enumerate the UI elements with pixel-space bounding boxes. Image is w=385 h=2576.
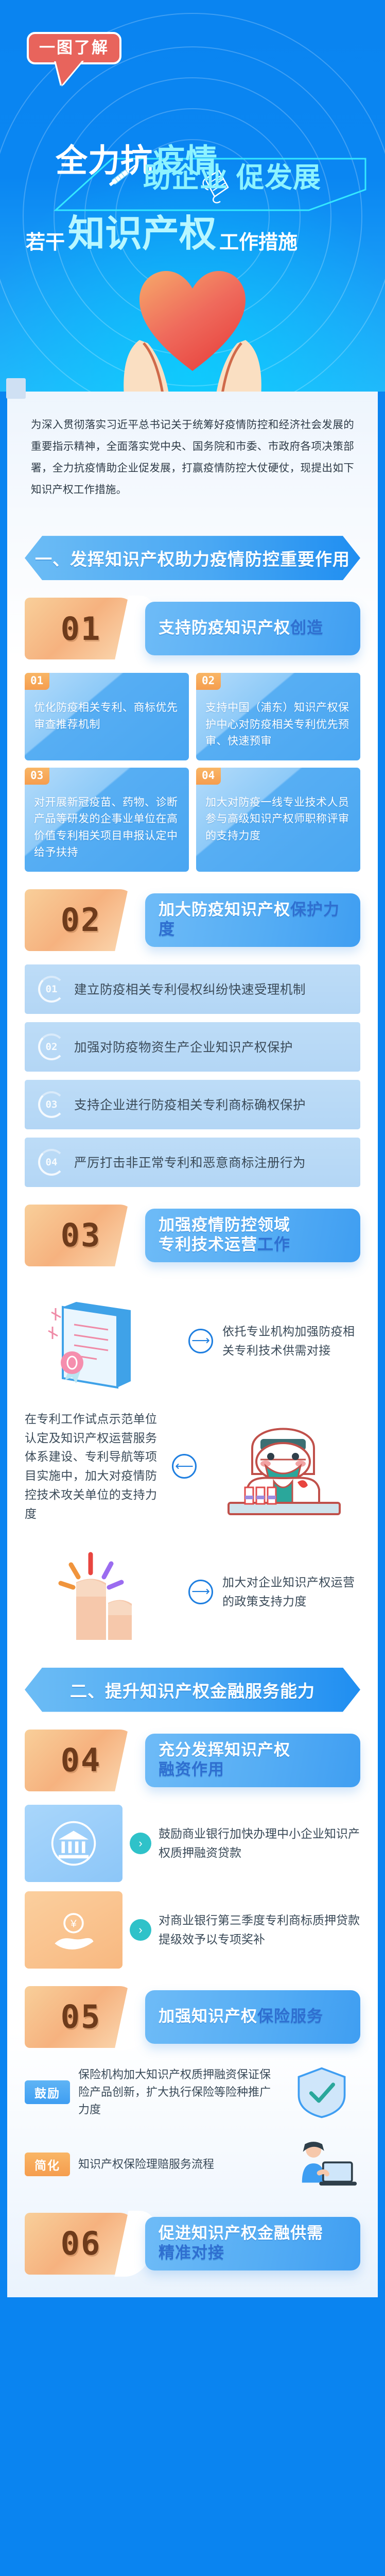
tile-text: 对开展新冠疫苗、药物、诊断产品等研发的企事业单位在高价值专利相关项目申报认定中给… [34, 794, 180, 861]
tile-item[interactable]: 03 对开展新冠疫苗、药物、诊断产品等研发的企事业单位在高价值专利相关项目申报认… [25, 768, 189, 872]
content-sheet: 为深入贯彻落实习近平总书记关于统筹好疫情防控和经济社会发展的重要指示精神，全面落… [7, 392, 378, 2297]
bar-item[interactable]: 04 严厉打击非正常专利和恶意商标注册行为 [25, 1138, 360, 1187]
card-head-04: 04 充分发挥知识产权 融资作用 [25, 1727, 360, 1793]
tag-row[interactable]: 鼓励 保险机构加大知识产权质押融资保证保险产品创新，扩大执行保险等险种推广力度 [25, 2061, 360, 2123]
hero-title-line3-pre: 若干 [26, 233, 65, 252]
badge-speech-bubble: 一图了解 [27, 32, 121, 64]
shield-insurance-illustration [283, 2061, 360, 2123]
card-title-03-highlight: 工作 [257, 1235, 290, 1253]
card-head-06: 06 促进知识产权金融供需 精准对接 [25, 2211, 360, 2277]
card-head-05: 05 加强知识产权保险服务 [25, 1984, 360, 2050]
icon-row-text: 鼓励商业银行加快办理中小企业知识产权质押融资贷款 [159, 1824, 360, 1862]
bar-ring-icon: 04 [38, 1149, 65, 1176]
bar-text: 支持企业进行防疫相关专利商标确权保护 [74, 1095, 306, 1113]
bar-group-02: 01 建立防疫相关专利侵权纠纷快速受理机制 02 加强对防疫物资生产企业知识产权… [25, 964, 360, 1187]
section-banner-1: 一、发挥知识产权助力疫情防控重要作用 [25, 536, 360, 580]
lab-researcher-illustration [206, 1412, 360, 1520]
card-title-03-line1: 加强疫情防控领域 [159, 1215, 290, 1235]
card-title-pill-05: 加强知识产权保险服务 [145, 1990, 360, 2044]
bank-icon [25, 1805, 122, 1882]
card-title-pill-02: 加大防疫知识产权保护力度 [145, 893, 360, 947]
bubble-tail [56, 60, 82, 85]
hand-coin-icon: ¥ [25, 1891, 122, 1969]
card-head-03: 03 加强疫情防控领域 专利技术运营工作 [25, 1202, 360, 1268]
card-title-pill-06: 促进知识产权金融供需 精准对接 [145, 2217, 360, 2270]
tile-text: 加大对防疫一线专业技术人员参与高级知识产权师职称评审的支持力度 [205, 794, 351, 845]
hero-title-line2: 助企业 促发展 [143, 164, 321, 192]
section-banner-1-label: 一、发挥知识产权助力疫情防控重要作用 [25, 546, 360, 570]
infographic-poster: 一图了解 全力抗疫情 助企业 促发展 [0, 0, 385, 2297]
intro-block: 为深入贯彻落实习近平总书记关于统筹好疫情防控和经济社会发展的重要指示精神，全面落… [7, 392, 378, 521]
bar-text: 建立防疫相关专利侵权纠纷快速受理机制 [74, 980, 306, 998]
hero-title-line1-white: 全力抗 [56, 143, 153, 179]
arrow-right-circle-icon: ⟶ [188, 1329, 213, 1353]
bar-text: 加强对防疫物资生产企业知识产权保护 [74, 1038, 293, 1056]
bar-item[interactable]: 02 加强对防疫物资生产企业知识产权保护 [25, 1022, 360, 1072]
arrow-right-circle-icon: ⟶ [188, 1580, 213, 1604]
tile-number: 03 [25, 768, 49, 785]
arrow-row[interactable]: ⟵ 在专利工作试点示范单位认定及知识产权运营服务体系建设、专利导航等项目实施中，… [25, 1402, 360, 1531]
chevron-right-icon: › [130, 1833, 151, 1854]
tile-text: 支持中国（浦东）知识产权保护中心对防疫相关专利优先预审、快速预审 [205, 700, 351, 750]
card-title-05-white: 加强知识产权 [159, 2007, 257, 2025]
icon-row[interactable]: ¥ › 对商业银行第三季度专利商标质押贷款提级效予以专项奖补 [25, 1891, 360, 1969]
tile-text: 优化防疫相关专利、商标优先审查推荐机制 [34, 700, 180, 733]
tile-number: 01 [25, 673, 49, 690]
card-title-04-white: 充分发挥知识产权 [159, 1740, 290, 1760]
tag-row[interactable]: 简化 知识产权保险理赔服务流程 [25, 2133, 360, 2195]
tile-item[interactable]: 01 优化防疫相关专利、商标优先审查推荐机制 [25, 673, 189, 760]
card-title-06-white: 促进知识产权金融供需 [159, 2224, 323, 2243]
tile-group-01: 01 优化防疫相关专利、商标优先审查推荐机制 02 支持中国（浦东）知识产权保护… [25, 673, 360, 872]
tile-number: 04 [196, 768, 221, 785]
card-title-pill-04: 充分发挥知识产权 融资作用 [145, 1734, 360, 1787]
icon-row[interactable]: › 鼓励商业银行加快办理中小企业知识产权质押融资贷款 [25, 1805, 360, 1882]
card-number-05: 05 [61, 1998, 101, 2036]
card-title-04-highlight: 融资作用 [159, 1760, 290, 1780]
card-title-pill-01: 支持防疫知识产权创造 [145, 602, 360, 655]
bar-number: 03 [46, 1099, 58, 1110]
bar-number: 01 [46, 984, 58, 995]
card-number-02: 02 [61, 901, 101, 939]
bar-text: 严厉打击非正常专利和恶意商标注册行为 [74, 1153, 306, 1171]
section-banner-2: 二、提升知识产权金融服务能力 [25, 1668, 360, 1712]
card-title-01-white: 支持防疫知识产权 [159, 619, 290, 637]
card-number-06: 06 [61, 2225, 101, 2262]
card-title-06-highlight: 精准对接 [159, 2243, 323, 2263]
chevron-right-icon: › [130, 1919, 151, 1941]
arrow-row[interactable]: ⟶ 依托专业机构加强防疫相关专利技术供需对接 [25, 1280, 360, 1402]
tag-label: 鼓励 [25, 2080, 70, 2104]
arrow-group-03: ⟶ 依托专业机构加强防疫相关专利技术供需对接 [25, 1280, 360, 1653]
bar-item[interactable]: 03 支持企业进行防疫相关专利商标确权保护 [25, 1080, 360, 1129]
arrow-row-text: 在专利工作试点示范单位认定及知识产权运营服务体系建设、专利导航等项目实施中，加大… [25, 1410, 163, 1523]
bar-number: 04 [46, 1157, 58, 1168]
arrow-row[interactable]: ⟶ 加大对企业知识产权运营的政策支持力度 [25, 1531, 360, 1653]
card-title-03-line2: 专利技术运营 [159, 1235, 257, 1253]
bar-number: 02 [46, 1041, 58, 1053]
card-title-01-highlight: 创造 [290, 619, 323, 637]
hands-holding-heart-illustration [108, 242, 277, 392]
tile-item[interactable]: 02 支持中国（浦东）知识产权保护中心对防疫相关专利优先预审、快速预审 [196, 673, 360, 760]
card-title-02-white: 加大防疫知识产权 [159, 901, 290, 919]
laptop-user-illustration [283, 2133, 360, 2195]
arrow-row-text: 加大对企业知识产权运营的政策支持力度 [222, 1573, 360, 1611]
tile-item[interactable]: 04 加大对防疫一线专业技术人员参与高级知识产权师职称评审的支持力度 [196, 768, 360, 872]
card-head-01: 01 支持防疫知识产权创造 [25, 596, 360, 662]
raised-fists-illustration [25, 1538, 179, 1646]
card-head-02: 02 加大防疫知识产权保护力度 [25, 887, 360, 953]
sheet-corner-decoration [6, 378, 26, 399]
icon-row-text: 对商业银行第三季度专利商标质押贷款提级效予以专项奖补 [159, 1911, 360, 1949]
intro-paragraph: 为深入贯彻落实习近平总书记关于统筹好疫情防控和经济社会发展的重要指示精神，全面落… [31, 414, 354, 501]
card-title-pill-03: 加强疫情防控领域 专利技术运营工作 [145, 1209, 360, 1262]
arrow-left-circle-icon: ⟵ [172, 1454, 197, 1479]
svg-text:¥: ¥ [70, 1918, 77, 1929]
tag-row-text: 保险机构加大知识产权质押融资保证保险产品创新，扩大执行保险等险种推广力度 [78, 2066, 275, 2119]
card-number-03: 03 [61, 1216, 101, 1254]
card-number-01: 01 [61, 610, 101, 648]
card-title-05-highlight: 保险服务 [257, 2007, 323, 2025]
bar-item[interactable]: 01 建立防疫相关专利侵权纠纷快速受理机制 [25, 964, 360, 1014]
tile-number: 02 [196, 673, 221, 690]
arrow-row-text: 依托专业机构加强防疫相关专利技术供需对接 [222, 1322, 360, 1360]
badge-label: 一图了解 [39, 40, 109, 56]
tag-label: 简化 [25, 2153, 70, 2176]
bar-ring-icon: 03 [38, 1091, 65, 1118]
hero-header: 一图了解 全力抗疫情 助企业 促发展 [0, 0, 385, 392]
section-banner-2-label: 二、提升知识产权金融服务能力 [25, 1677, 360, 1702]
bar-ring-icon: 01 [38, 976, 65, 1003]
patent-certificate-illustration [25, 1287, 179, 1395]
tag-row-text: 知识产权保险理赔服务流程 [78, 2156, 275, 2173]
card-number-04: 04 [61, 1741, 101, 1779]
bar-ring-icon: 02 [38, 1033, 65, 1060]
